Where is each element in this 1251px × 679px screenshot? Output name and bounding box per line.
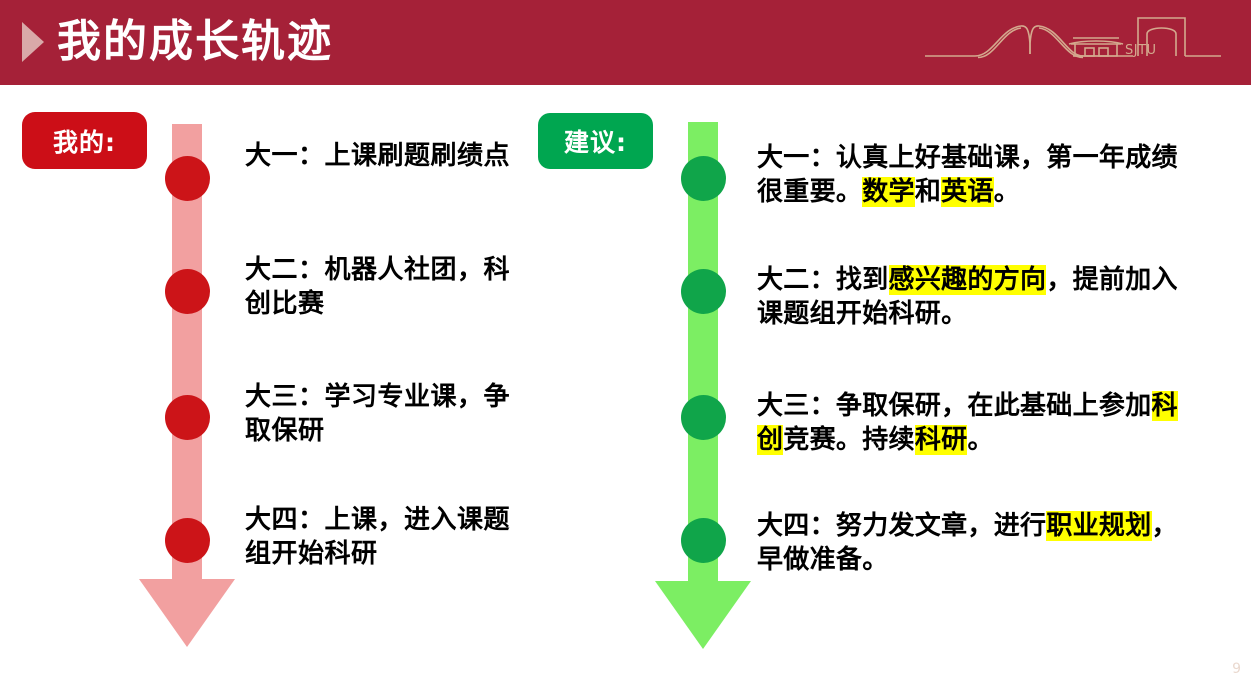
advice-item-year4: 大四：努力发文章，进行职业规划，早做准备。 [757,510,1189,578]
page-title: 我的成长轨迹 [57,8,333,76]
badge-advice: 建议: [538,113,653,169]
badge-my-track: 我的: [22,112,147,169]
timeline-node-red-4 [165,518,210,563]
slide-header: 我的成长轨迹 SJTU [0,0,1251,85]
track-item-year1: 大一：上课刷题刷绩点 [245,140,525,174]
track-item-year3: 大三：学习专业课，争取保研 [245,381,525,449]
timeline-node-red-1 [165,156,210,201]
badge-advice-label: 建议: [564,123,627,159]
svg-text:SJTU: SJTU [1125,43,1157,58]
badge-my-track-label: 我的: [53,123,116,159]
plain-text: 。 [967,425,993,455]
highlighted-text: 英语 [941,177,994,207]
highlighted-text: 感兴趣的方向 [889,265,1047,295]
track-item-year2: 大二：机器人社团，科创比赛 [245,254,525,322]
highlighted-text: 科研 [915,425,968,455]
timeline-arrowhead-red [139,579,235,647]
advice-item-year1: 大一：认真上好基础课，第一年成绩很重要。数学和英语。 [757,142,1189,210]
timeline-node-green-4 [681,518,726,563]
timeline-node-red-3 [165,395,210,440]
timeline-node-green-1 [681,156,726,201]
highlighted-text: 职业规划 [1046,511,1151,541]
timeline-node-red-2 [165,269,210,314]
plain-text: 。 [994,177,1020,207]
timeline-arrow-green [655,122,751,650]
sjtu-skyline-icon: SJTU [923,8,1223,78]
plain-text: 和 [915,177,941,207]
plain-text: 大四：努力发文章，进行 [757,511,1046,541]
highlighted-text: 数学 [862,177,915,207]
advice-item-year3: 大三：争取保研，在此基础上参加科创竞赛。持续科研。 [757,390,1189,458]
plain-text: 大二：找到 [757,265,889,295]
plain-text: 大三：争取保研，在此基础上参加 [757,391,1152,421]
track-item-year4: 大四：上课，进入课题组开始科研 [245,504,525,572]
timeline-arrowhead-green [655,581,751,649]
timeline-node-green-2 [681,269,726,314]
advice-item-year2: 大二：找到感兴趣的方向，提前加入课题组开始科研。 [757,264,1189,332]
timeline-node-green-3 [681,395,726,440]
plain-text: 竞赛。持续 [783,425,915,455]
page-number: 9 [1232,661,1241,677]
triangle-right-icon [22,22,44,62]
timeline-arrow-red [139,124,235,647]
